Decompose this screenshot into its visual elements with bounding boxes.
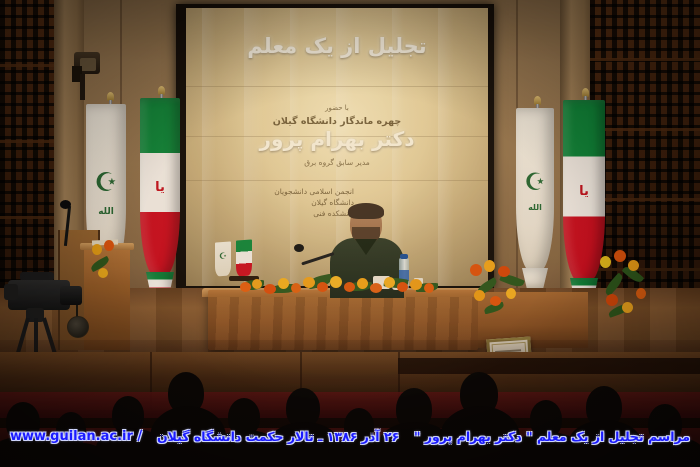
screen-with-presence-label: با حضور [186, 104, 488, 112]
caption-event-text: مراسم تجلیل از یک معلم " دکتر بهرام پرور… [414, 429, 690, 444]
microphone-head-icon [294, 244, 304, 252]
screen-honoree-name: دکتر بهرام پرور [186, 127, 488, 151]
caption-date-venue-text: ۲۶ آذر ۱۳۸۶ ـ تالار حکمت دانشگاه گیلان [157, 429, 399, 444]
caption-website-url[interactable]: www.guilan.ac.ir / [10, 429, 142, 444]
screen-organizer-line-1: انجمن اسلامی دانشجویان [204, 186, 354, 197]
flower-arrangement-far-left [88, 238, 128, 298]
screen-honoree-subtitle: مدیر سابق گروه برق [186, 158, 488, 167]
flower-arrangement-far-right [596, 250, 666, 345]
screen-honoree-role: چهره ماندگار دانشگاه گیلان [186, 116, 488, 127]
wall-speaker-icon [67, 316, 89, 338]
caption-bar: مراسم تجلیل از یک معلم " دکتر بهرام پرور… [0, 423, 700, 449]
flower-arrangement-right [470, 260, 550, 340]
flower-arrangement-table [238, 268, 448, 298]
photograph-auditorium-ceremony: تجلیل از یک معلم با حضور چهره ماندگار دا… [0, 0, 700, 467]
bottle-cap [400, 254, 408, 259]
screen-title: تجلیل از یک معلم [186, 34, 488, 58]
